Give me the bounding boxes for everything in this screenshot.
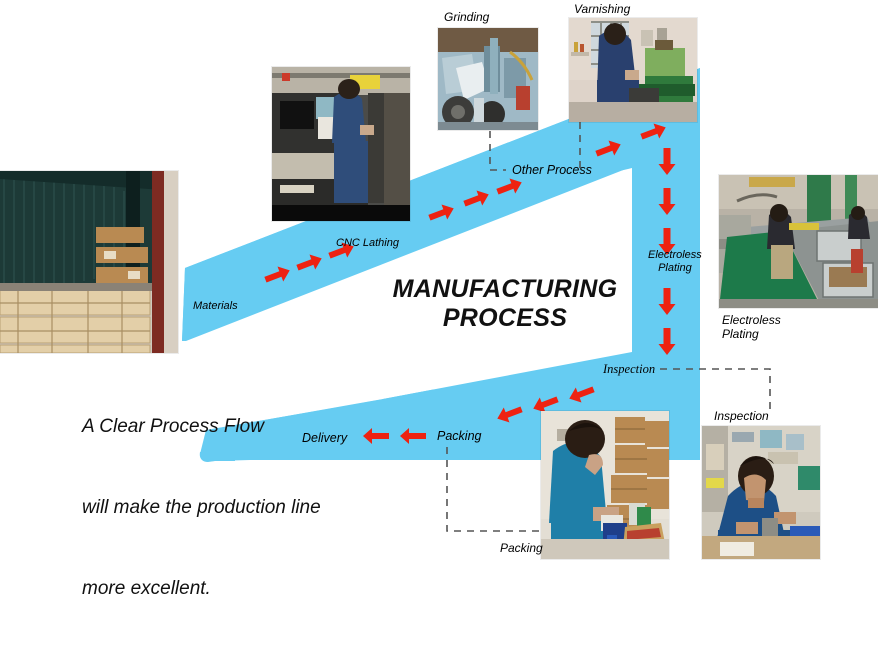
photo-caption-packing: Packing bbox=[500, 541, 543, 555]
varnishing-photo bbox=[569, 18, 697, 122]
photo-caption-inspection: Inspection bbox=[714, 409, 769, 423]
tagline-line2: will make the production line bbox=[82, 495, 321, 522]
grinding-photo bbox=[438, 28, 538, 130]
cnc-photo bbox=[272, 67, 410, 221]
page-title-line1: MANUFACTURING bbox=[385, 275, 625, 304]
stage-label-materials: Materials bbox=[193, 300, 238, 313]
page-title: MANUFACTURING PROCESS bbox=[385, 275, 625, 333]
electroless-photo bbox=[719, 175, 878, 308]
page-title-line2: PROCESS bbox=[385, 304, 625, 333]
inspection-photo bbox=[702, 426, 820, 559]
tagline: A Clear Process Flow will make the produ… bbox=[82, 360, 321, 657]
stage-label-other-process: Other Process bbox=[512, 163, 592, 178]
stage-label-cnc-lathing: CNC Lathing bbox=[336, 237, 399, 250]
photo-caption-varnishing: Varnishing bbox=[574, 2, 630, 16]
stage-label-electroless-plating: Electroless Plating bbox=[648, 249, 702, 275]
manufacturing-process-diagram: Materials CNC Lathing Other Process Elec… bbox=[0, 0, 878, 559]
photo-caption-electroless-plating: Electroless Plating bbox=[722, 313, 781, 341]
stage-label-packing: Packing bbox=[437, 429, 481, 444]
tagline-line3: more excellent. bbox=[82, 576, 321, 603]
materials-photo bbox=[0, 171, 178, 353]
photo-caption-grinding: Grinding bbox=[444, 10, 489, 24]
tagline-line1: A Clear Process Flow bbox=[82, 414, 321, 441]
packing-photo bbox=[541, 411, 669, 559]
stage-label-inspection: Inspection bbox=[603, 362, 655, 377]
